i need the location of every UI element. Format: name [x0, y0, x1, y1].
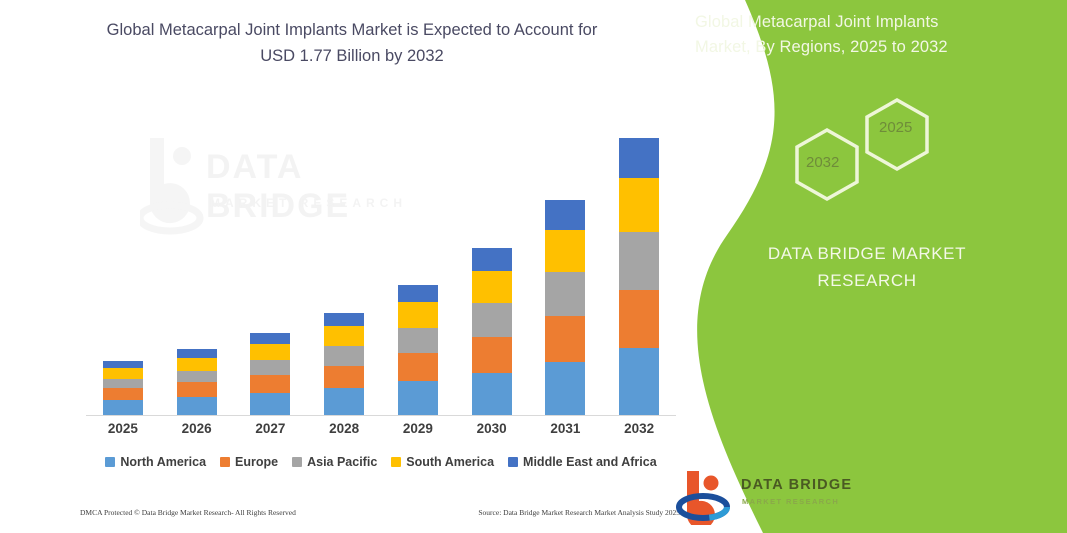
bar-segment	[472, 248, 512, 271]
bar-segment	[324, 366, 364, 388]
bar-column	[86, 131, 160, 416]
bar-column	[381, 131, 455, 416]
footer: DMCA Protected © Data Bridge Market Rese…	[80, 508, 680, 517]
bar-segment	[250, 344, 290, 360]
bar-column	[307, 131, 381, 416]
legend-item[interactable]: South America	[391, 455, 494, 469]
x-axis-labels: 20252026202720282029203020312032	[86, 421, 676, 436]
bar-segment	[177, 382, 217, 397]
legend-item[interactable]: Asia Pacific	[292, 455, 377, 469]
bar-segment	[177, 397, 217, 416]
footer-copyright: DMCA Protected © Data Bridge Market Rese…	[80, 508, 296, 517]
bar-column	[455, 131, 529, 416]
hexagon-2025-label: 2025	[879, 119, 912, 136]
bar-segment	[250, 333, 290, 344]
legend-label: Middle East and Africa	[523, 455, 657, 469]
bar-segment	[324, 388, 364, 416]
legend-swatch-icon	[508, 457, 518, 467]
bar-column	[602, 131, 676, 416]
bar-segment	[472, 271, 512, 304]
legend-label: Asia Pacific	[307, 455, 377, 469]
bar-segment	[103, 400, 143, 416]
bar-segment	[472, 337, 512, 373]
bar-segment	[619, 348, 659, 416]
footer-source: Source: Data Bridge Market Research Mark…	[478, 508, 680, 517]
stacked-bar	[398, 285, 438, 416]
hexagon-group: 2032 2025	[777, 92, 957, 207]
bar-segment	[619, 178, 659, 233]
stacked-bar	[619, 138, 659, 416]
branding-panel: Global Metacarpal Joint Implants Market,…	[667, 0, 1067, 533]
x-axis-tick-label: 2029	[381, 421, 455, 436]
x-axis-tick-label: 2032	[602, 421, 676, 436]
bar-segment	[103, 368, 143, 378]
x-axis-tick-label: 2031	[529, 421, 603, 436]
bar-segment	[398, 302, 438, 327]
dbmr-logo-subtext: MARKET RESEARCH	[742, 497, 839, 506]
legend-item[interactable]: North America	[105, 455, 206, 469]
screenshot-root: Global Metacarpal Joint Implants Market …	[0, 0, 1067, 533]
bar-segment	[324, 346, 364, 366]
stacked-bar	[545, 200, 585, 416]
chart-title: Global Metacarpal Joint Implants Market …	[92, 18, 612, 69]
dbmr-logo: DATA BRIDGE MARKET RESEARCH	[675, 467, 860, 529]
legend-swatch-icon	[391, 457, 401, 467]
x-axis-tick-label: 2026	[160, 421, 234, 436]
bar-column	[160, 131, 234, 416]
bar-segment	[250, 360, 290, 375]
chart-panel: Global Metacarpal Joint Implants Market …	[0, 0, 705, 533]
bar-segment	[398, 328, 438, 353]
bar-segment	[472, 373, 512, 416]
bar-segment	[103, 379, 143, 388]
bar-segment	[177, 371, 217, 383]
x-axis-tick-label: 2028	[307, 421, 381, 436]
legend-item[interactable]: Europe	[220, 455, 278, 469]
stacked-bar	[472, 248, 512, 416]
bar-segment	[545, 362, 585, 416]
legend-swatch-icon	[105, 457, 115, 467]
chart-legend: North AmericaEuropeAsia PacificSouth Ame…	[86, 455, 676, 469]
bar-segment	[250, 393, 290, 416]
bar-column	[529, 131, 603, 416]
bar-segment	[472, 303, 512, 337]
bar-segment	[545, 230, 585, 272]
bar-series-container	[86, 131, 676, 416]
bar-segment	[398, 285, 438, 302]
bar-segment	[250, 375, 290, 393]
legend-swatch-icon	[220, 457, 230, 467]
bar-segment	[619, 232, 659, 289]
panel-title: Global Metacarpal Joint Implants Market,…	[695, 10, 995, 60]
legend-item[interactable]: Middle East and Africa	[508, 455, 657, 469]
plot-region	[86, 130, 676, 416]
bar-segment	[103, 388, 143, 400]
bar-segment	[545, 316, 585, 362]
bar-segment	[324, 313, 364, 327]
x-axis-tick-label: 2030	[455, 421, 529, 436]
x-axis-line	[86, 415, 676, 416]
stacked-bar	[177, 349, 217, 416]
legend-label: South America	[406, 455, 494, 469]
brand-line-2: RESEARCH	[697, 267, 1037, 294]
bar-segment	[103, 361, 143, 368]
bar-segment	[398, 353, 438, 381]
hexagon-icons	[777, 92, 957, 207]
brand-name: DATA BRIDGE MARKET RESEARCH	[697, 240, 1037, 294]
stacked-bar	[103, 361, 143, 416]
stacked-bar	[250, 333, 290, 416]
legend-label: North America	[120, 455, 206, 469]
bar-segment	[177, 349, 217, 358]
legend-swatch-icon	[292, 457, 302, 467]
brand-line-1: DATA BRIDGE MARKET	[768, 244, 966, 263]
bar-segment	[619, 138, 659, 178]
x-axis-tick-label: 2027	[234, 421, 308, 436]
bar-segment	[545, 200, 585, 230]
dbmr-logo-text: DATA BRIDGE	[741, 477, 852, 493]
bar-segment	[324, 326, 364, 346]
legend-label: Europe	[235, 455, 278, 469]
dbmr-logo-icon	[675, 467, 737, 525]
hexagon-2032-label: 2032	[806, 154, 839, 171]
bar-segment	[545, 272, 585, 316]
bar-column	[234, 131, 308, 416]
bar-segment	[619, 290, 659, 349]
x-axis-tick-label: 2025	[86, 421, 160, 436]
bar-segment	[398, 381, 438, 416]
stacked-bar	[324, 313, 364, 416]
bar-segment	[177, 358, 217, 371]
